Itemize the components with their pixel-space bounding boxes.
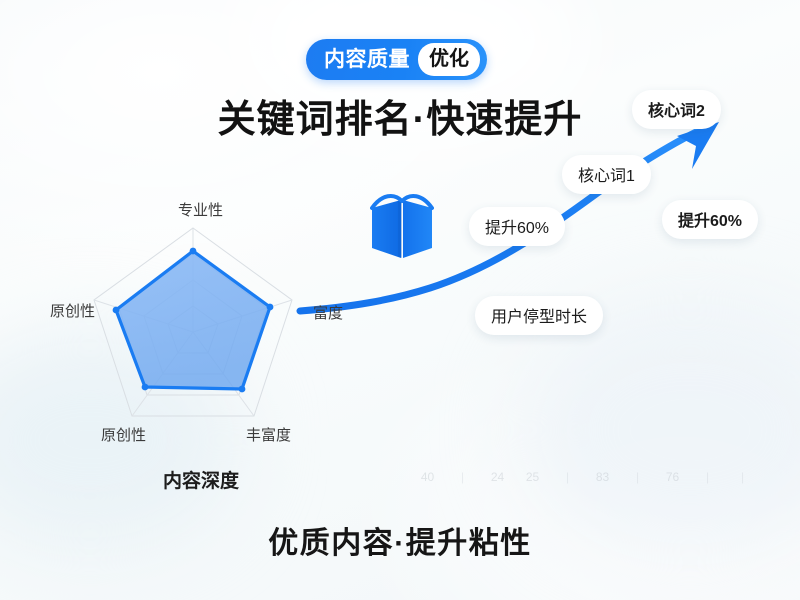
badge-pill-label: 优化 [418,43,480,76]
radar-axis-label-bottom-right: 丰富度 [246,424,291,445]
radar-axis-label-left: 原创性 [50,300,95,321]
ruler-item: | [725,470,760,484]
radar-axis-label-right: 富度 [313,302,343,323]
page-subtitle: 优质内容·提升粘性 [0,518,800,562]
pill-uplift-1[interactable]: 提升60% [469,207,565,246]
faint-ruler-axis: 40 | 24 25 | 83 | 76 | | [410,466,760,488]
radar-chart [48,222,338,447]
ruler-item: | [620,470,655,484]
ruler-item: | [445,470,480,484]
radar-axis-label-top: 专业性 [178,199,223,220]
ruler-item: 76 [655,470,690,484]
poster-canvas: 内容质量 优化 关键词排名·快速提升 [0,0,800,600]
pill-keyword-1[interactable]: 核心词1 [562,155,651,194]
content-depth-label: 内容深度 [163,466,239,493]
radar-axis-label-bottom-left: 原创性 [101,424,146,445]
pill-keyword-2[interactable]: 核心词2 [632,90,721,129]
ruler-item: 24 [480,470,515,484]
ruler-item: 83 [585,470,620,484]
open-book-icon [370,188,434,270]
ruler-item: | [690,470,725,484]
badge-main-label: 内容质量 [324,49,410,70]
ruler-item: | [550,470,585,484]
radar-series-area [116,251,270,389]
ruler-item: 25 [515,470,550,484]
pill-uplift-2[interactable]: 提升60% [662,200,758,239]
pill-dwell-time[interactable]: 用户停型时长 [475,296,603,335]
content-quality-badge[interactable]: 内容质量 优化 [306,39,487,80]
ruler-item: 40 [410,470,445,484]
